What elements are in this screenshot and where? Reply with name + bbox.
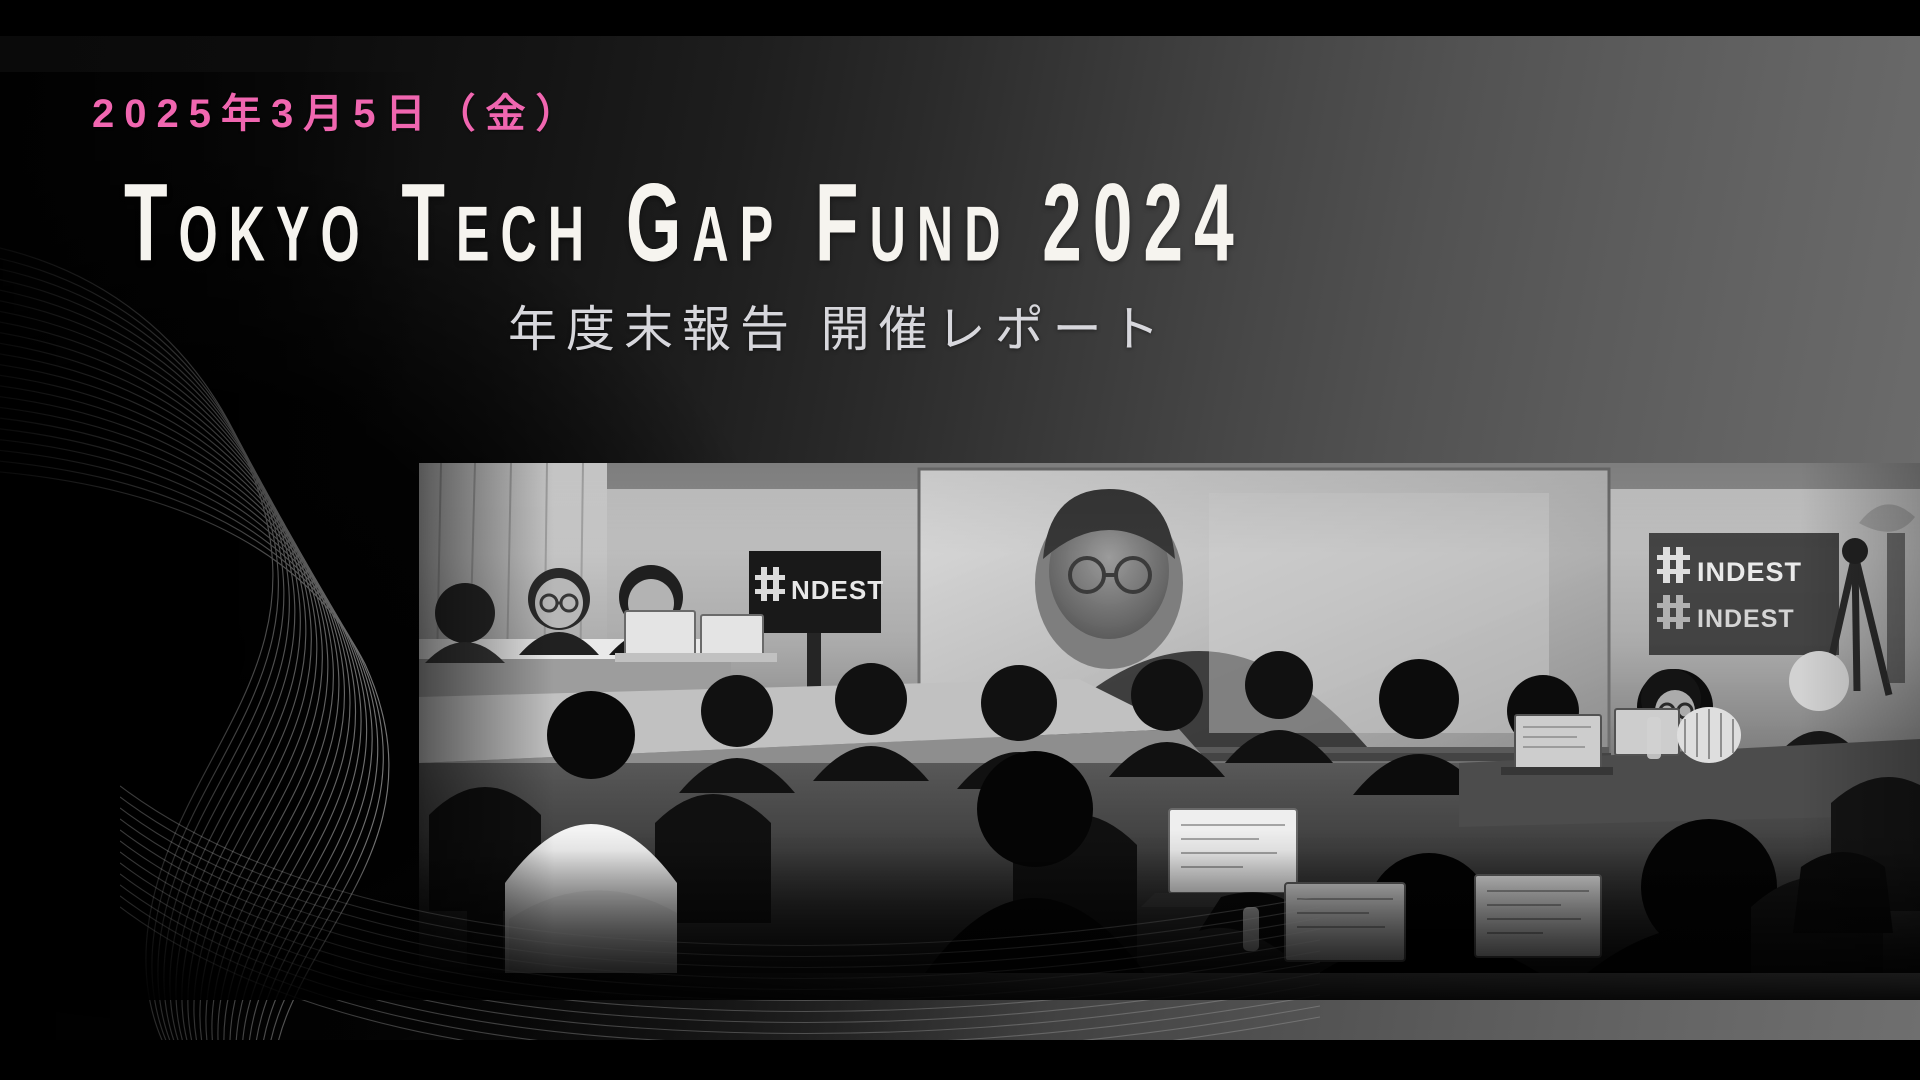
svg-text:INDEST: INDEST [1697, 605, 1795, 633]
letterbox-bottom [0, 1040, 1920, 1080]
gradient-background: NDEST INDEST [0, 36, 1920, 1040]
event-photo: NDEST INDEST [419, 463, 1920, 973]
page-subtitle: 年度末報告 開催レポート [508, 304, 1169, 358]
letterbox-top [0, 0, 1920, 36]
page-title: Tokyo Tech Gap Fund 2024 [124, 168, 1245, 279]
banner-stage: NDEST INDEST [0, 0, 1920, 1080]
svg-text:INDEST: INDEST [1697, 557, 1802, 587]
svg-text:NDEST: NDEST [791, 575, 884, 605]
event-date: 2025年3月5日（金） [92, 92, 585, 136]
